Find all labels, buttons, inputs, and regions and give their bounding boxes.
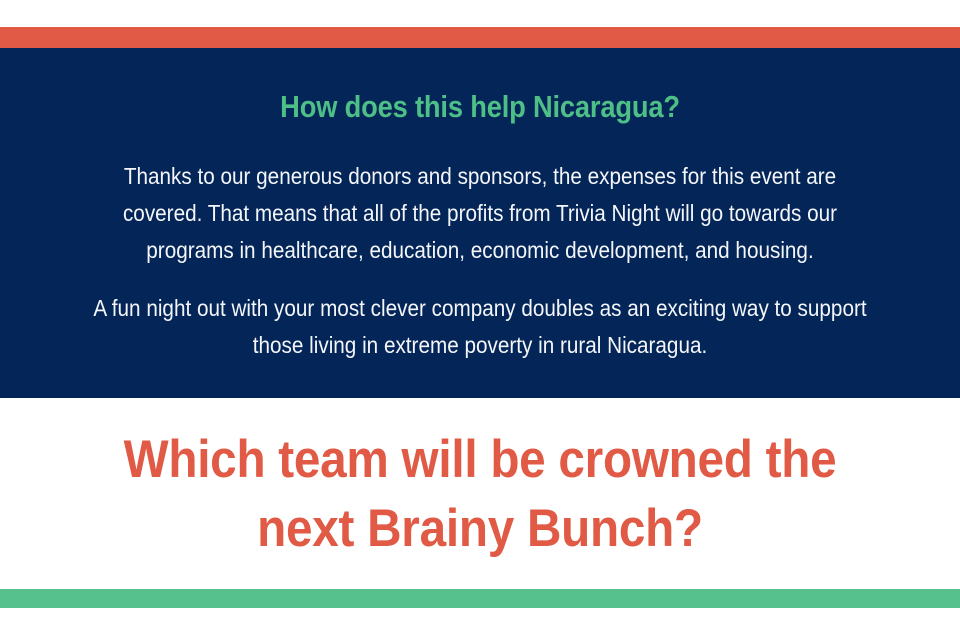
top-white-margin (0, 0, 960, 27)
section-heading: How does this help Nicaragua? (93, 48, 867, 125)
top-coral-accent-bar (0, 27, 960, 48)
white-headline-panel: Which team will be crowned the next Brai… (0, 398, 960, 589)
bottom-white-margin (0, 608, 960, 640)
body-paragraph-2: A fun night out with your most clever co… (84, 290, 876, 364)
navy-content-panel: How does this help Nicaragua? Thanks to … (0, 48, 960, 398)
poster-slide: How does this help Nicaragua? Thanks to … (0, 0, 960, 640)
call-to-action-headline: Which team will be crowned the next Brai… (84, 398, 876, 563)
body-paragraph-1: Thanks to our generous donors and sponso… (84, 158, 876, 269)
bottom-green-accent-bar (0, 589, 960, 608)
